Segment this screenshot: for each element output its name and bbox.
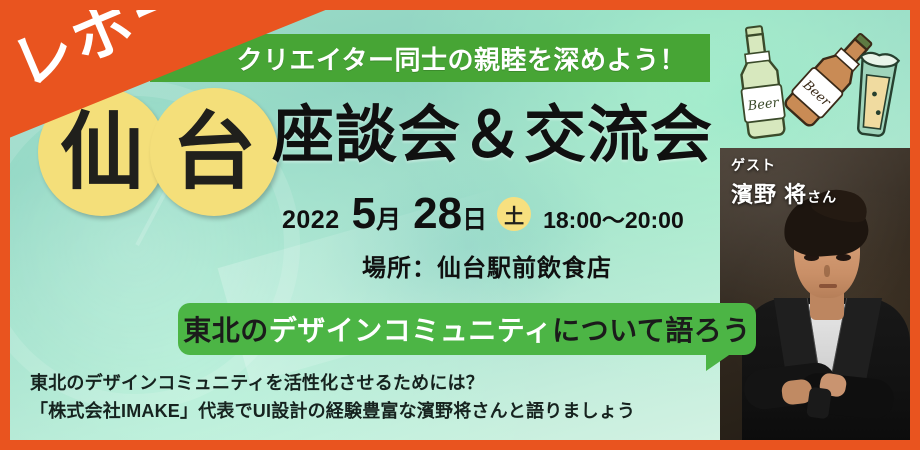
date-weekday-badge: 土 [497, 197, 531, 231]
guest-honorific: さん [807, 189, 837, 205]
topic-part-3: について語ろう [552, 315, 751, 346]
guest-label: ゲスト [731, 155, 837, 175]
jilla-wordmark: JiLLA [28, 12, 109, 39]
tagline-text: クリエイター同士の親睦を深めよう！ [237, 40, 686, 77]
city-circle-1: 仙 [38, 88, 166, 216]
city-circles: 仙 台 [38, 88, 278, 216]
jilla-logo-subtext: Japan Illustrators Association [30, 41, 109, 46]
event-poster: JiLLA Japan Illustrators Association 東日本… [0, 0, 920, 450]
event-venue: 場所：仙台駅前飲食店 [362, 248, 612, 283]
topic-part-2: デザインコミュニティ [269, 315, 552, 346]
green-beer-bottle: Beer [734, 25, 787, 139]
topic-part-1: 東北の [183, 315, 269, 346]
event-description: 東北のデザインコミュニティを活性化させるためには？ 「株式会社IMAKE」代表で… [30, 370, 635, 426]
beer-illustration-svg: Beer Beer [706, 14, 906, 142]
description-line-2: 「株式会社IMAKE」代表でUI設計の経験豊富な濱野将さんと語りましょう [30, 398, 635, 426]
city-circle-2: 台 [150, 88, 278, 216]
date-month-number: 5 [352, 192, 376, 236]
date-time-range: 18:00〜20:00 [543, 201, 684, 235]
event-title: 座談会＆交流会 [272, 103, 713, 168]
guest-caption: ゲスト 濱野 将さん [731, 155, 837, 209]
jilla-region-label: 東日本 [28, 53, 109, 79]
guest-sleeve-cuff [806, 387, 832, 420]
jilla-logo: JiLLA Japan Illustrators Association 東日本 [28, 12, 109, 79]
topic-bubble-text: 東北のデザインコミュニティについて語ろう [183, 309, 751, 349]
jilla-wordmark-dot: i [39, 10, 49, 41]
tagline-banner: クリエイター同士の親睦を深めよう！ [150, 34, 710, 82]
guest-panel: ゲスト 濱野 将さん [720, 148, 910, 440]
date-month-unit: 月 [376, 200, 401, 236]
guest-nose [824, 265, 830, 277]
beer-illustration: Beer Beer [706, 14, 906, 142]
topic-bubble: 東北のデザインコミュニティについて語ろう [178, 303, 756, 355]
guest-mouth [819, 284, 837, 288]
guest-name: 濱野 将 [731, 182, 807, 207]
jilla-wordmark-pre: J [28, 10, 39, 41]
date-day-unit: 日 [462, 200, 487, 236]
date-day-number: 28 [413, 192, 462, 236]
date-year: 2022 [282, 206, 340, 235]
jilla-wordmark-post: LLA [49, 10, 107, 41]
description-line-1: 東北のデザインコミュニティを活性化させるためには？ [30, 370, 635, 398]
event-date-row: 2022 5 月 28 日 土 18:00〜20:00 [282, 192, 684, 236]
guest-name-row: 濱野 将さん [731, 177, 837, 209]
